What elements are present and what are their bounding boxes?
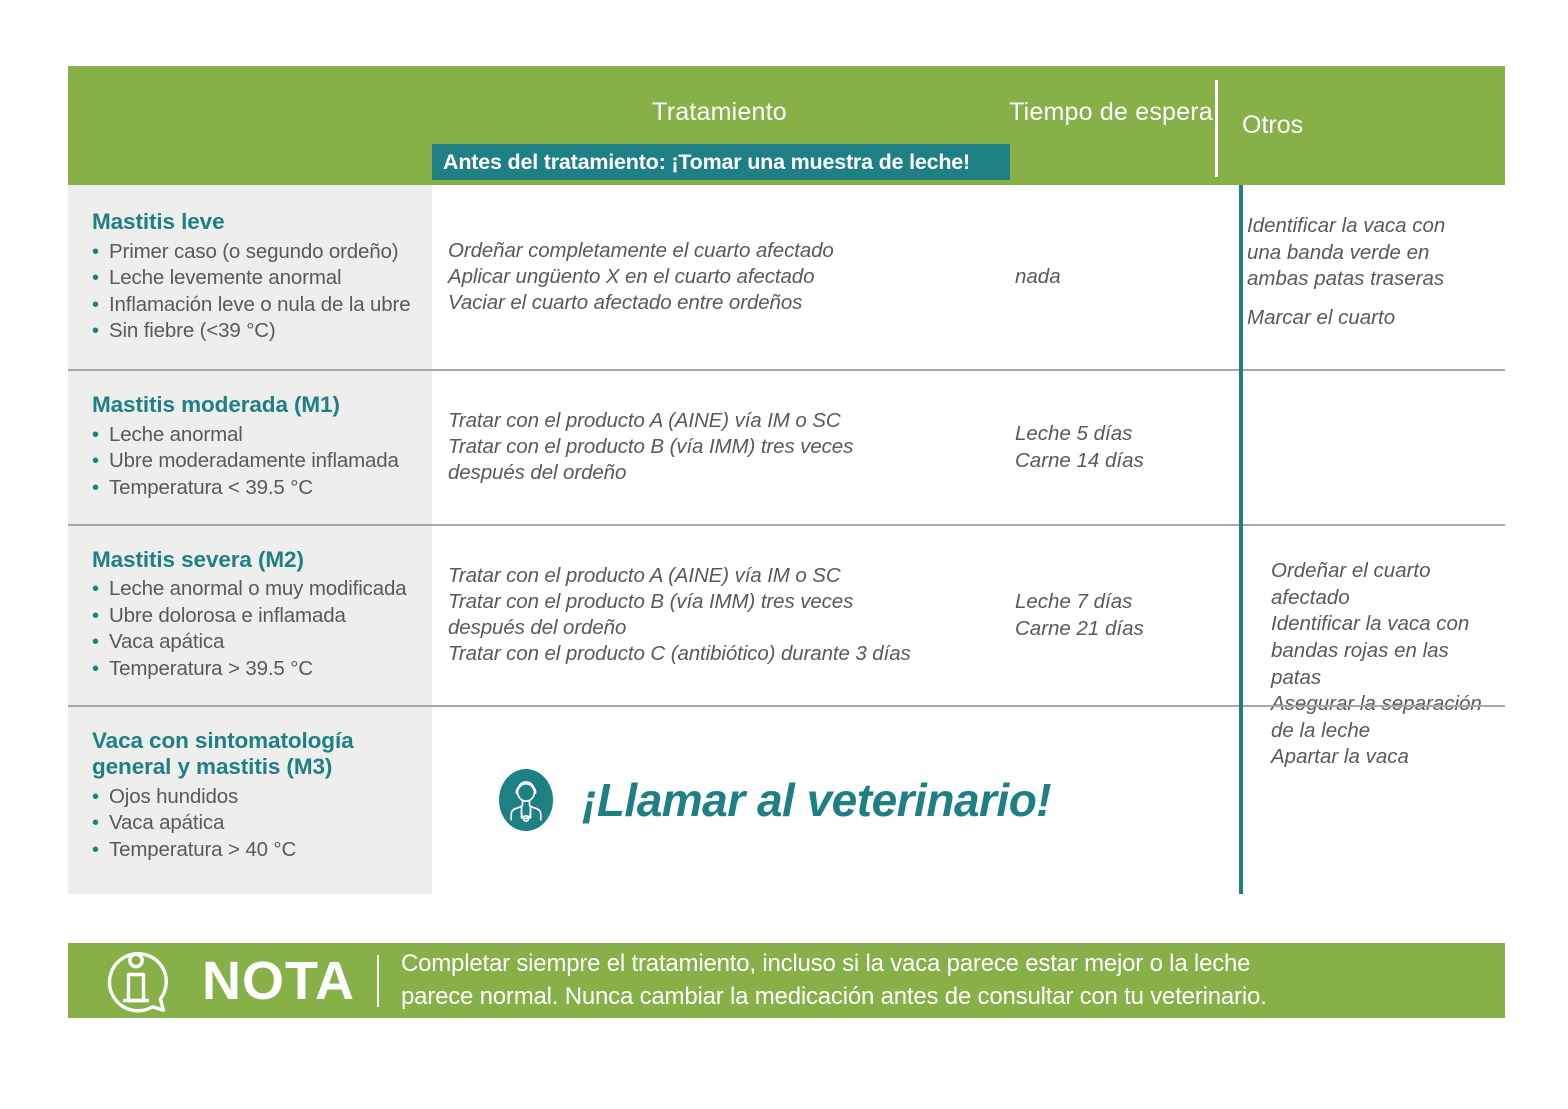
table-header-row: Tratamiento Antes del tratamiento: ¡Toma… (68, 66, 1505, 185)
table-row: Mastitis severa (M2) Leche anormal o muy… (68, 526, 1505, 707)
list-item: Leche anormal (92, 422, 418, 449)
table-row: Vaca con sintomatología general y mastit… (68, 707, 1505, 894)
row-title: Mastitis severa (M2) (92, 547, 418, 574)
other-cell-spacer (1215, 371, 1505, 523)
header-label-wait-time: Tiempo de espera (1007, 98, 1215, 127)
row-title: Mastitis leve (92, 209, 418, 236)
treatment-line: Tratar con el producto B (vía IMM) tres … (448, 589, 911, 615)
call-vet-banner: ¡Llamar al veterinario! (432, 707, 1505, 894)
signs-cell: Vaca con sintomatología general y mastit… (68, 707, 432, 894)
header-label-other: Otros (1242, 111, 1303, 140)
list-item: Ubre dolorosa e inflamada (92, 603, 418, 630)
treatment-cell: Tratar con el producto A (AINE) vía IM o… (432, 371, 1007, 523)
header-cell-signs (68, 66, 432, 185)
signs-list: Leche anormal o muy modificada Ubre dolo… (92, 576, 418, 683)
wait-time-line: Carne 14 días (1015, 447, 1144, 474)
note-divider (377, 955, 379, 1007)
list-item: Temperatura > 40 °C (92, 837, 418, 864)
wait-time-cell: Leche 7 días Carne 21 días (1007, 526, 1215, 705)
list-item: Temperatura > 39.5 °C (92, 656, 418, 683)
treatment-line: Tratar con el producto C (antibiótico) d… (448, 641, 911, 667)
header-cell-treatment: Tratamiento Antes del tratamiento: ¡Toma… (432, 66, 1007, 185)
teal-vertical-rule (1239, 185, 1243, 894)
treatment-line: Tratar con el producto B (vía IMM) tres … (448, 434, 853, 460)
signs-cell: Mastitis moderada (M1) Leche anormal Ubr… (68, 371, 432, 523)
veterinarian-icon (492, 766, 560, 834)
list-item: Leche levemente anormal (92, 265, 418, 292)
signs-list: Leche anormal Ubre moderadamente inflama… (92, 422, 418, 502)
note-line: Completar siempre el tratamiento, inclus… (401, 948, 1267, 980)
list-item: Primer caso (o segundo ordeño) (92, 239, 418, 266)
treatment-line: Tratar con el producto A (AINE) vía IM o… (448, 408, 853, 434)
info-bubble-icon (90, 934, 186, 1030)
signs-cell: Mastitis severa (M2) Leche anormal o muy… (68, 526, 432, 705)
signs-cell: Mastitis leve Primer caso (o segundo ord… (68, 185, 432, 369)
header-cell-other: Otros (1215, 66, 1505, 185)
row-title: Vaca con sintomatología general y mastit… (92, 728, 418, 781)
list-item: Ubre moderadamente inflamada (92, 448, 418, 475)
signs-list: Primer caso (o segundo ordeño) Leche lev… (92, 239, 418, 346)
header-cell-wait-time: Tiempo de espera (1007, 66, 1215, 185)
call-vet-label: ¡Llamar al veterinario! (582, 773, 1051, 827)
mastitis-protocol-table: Tratamiento Antes del tratamiento: ¡Toma… (68, 66, 1505, 894)
wait-time-cell: Leche 5 días Carne 14 días (1007, 371, 1215, 523)
other-line: ambas patas traseras (1247, 266, 1491, 293)
list-item: Inflamación leve o nula de la ubre (92, 292, 418, 319)
treatment-line: Aplicar ungüento X en el cuarto afectado (448, 264, 834, 290)
row-title: Mastitis moderada (M1) (92, 392, 418, 419)
treatment-cell: Tratar con el producto A (AINE) vía IM o… (432, 526, 1007, 705)
wait-time-line: Leche 5 días (1015, 420, 1144, 447)
list-item: Sin fiebre (<39 °C) (92, 318, 418, 345)
wait-time-line: Carne 21 días (1015, 615, 1144, 642)
note-text: Completar siempre el tratamiento, inclus… (401, 948, 1267, 1013)
table-body: Ordeñar el cuarto afectado Identificar l… (68, 185, 1505, 894)
header-label-treatment: Tratamiento (432, 98, 1007, 127)
other-line: una banda verde en (1247, 240, 1491, 267)
treatment-line: Vaciar el cuarto afectado entre ordeños (448, 290, 834, 316)
treatment-line: Ordeñar completamente el cuarto afectado (448, 238, 834, 264)
wait-time-line: Leche 7 días (1015, 588, 1144, 615)
note-label: NOTA (202, 954, 355, 1008)
other-cell-spacer (1215, 526, 1505, 705)
table-row: Mastitis moderada (M1) Leche anormal Ubr… (68, 371, 1505, 525)
treatment-line: después del ordeño (448, 460, 853, 486)
sample-reminder-badge: Antes del tratamiento: ¡Tomar una muestr… (432, 144, 1010, 180)
table-row: Mastitis leve Primer caso (o segundo ord… (68, 185, 1505, 371)
header-vertical-divider (1215, 80, 1218, 177)
other-line: Marcar el cuarto (1247, 305, 1491, 332)
signs-list: Ojos hundidos Vaca apática Temperatura >… (92, 784, 418, 864)
list-item: Vaca apática (92, 810, 418, 837)
infographic-page: Tratamiento Antes del tratamiento: ¡Toma… (0, 0, 1568, 1109)
wait-time-line: nada (1015, 263, 1061, 290)
note-line: parece normal. Nunca cambiar la medicaci… (401, 981, 1267, 1013)
list-item: Temperatura < 39.5 °C (92, 475, 418, 502)
list-item: Vaca apática (92, 629, 418, 656)
wait-time-cell: nada (1007, 185, 1215, 369)
list-item: Ojos hundidos (92, 784, 418, 811)
other-cell: Identificar la vaca con una banda verde … (1215, 185, 1505, 369)
other-line: Identificar la vaca con (1247, 213, 1491, 240)
treatment-line: Tratar con el producto A (AINE) vía IM o… (448, 563, 911, 589)
treatment-line: después del ordeño (448, 615, 911, 641)
note-banner: NOTA Completar siempre el tratamiento, i… (68, 943, 1505, 1018)
treatment-cell: Ordeñar completamente el cuarto afectado… (432, 185, 1007, 369)
list-item: Leche anormal o muy modificada (92, 576, 418, 603)
